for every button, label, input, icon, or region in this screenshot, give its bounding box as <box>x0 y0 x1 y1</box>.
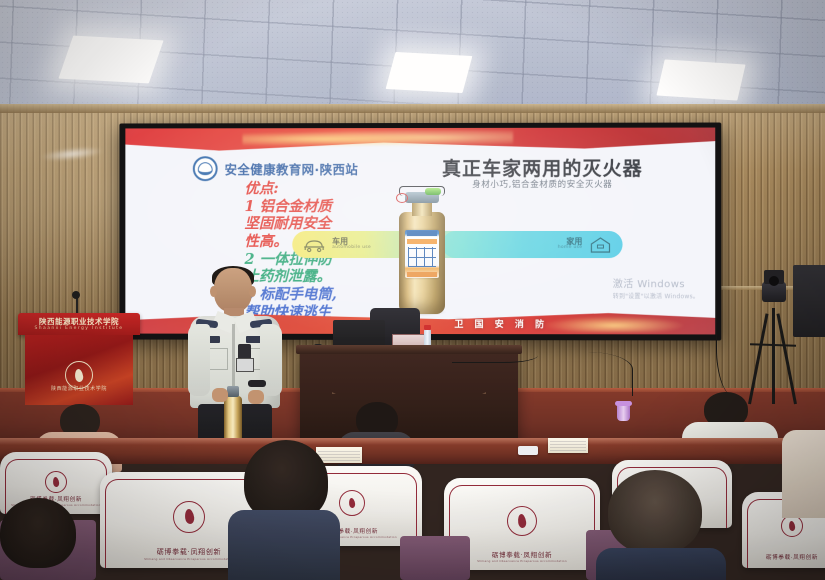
badge-automobile-sub: automobile use <box>332 246 371 251</box>
slide-bottom-ribbon-glow <box>537 315 691 332</box>
ceiling-light-2 <box>386 52 473 93</box>
school-crest-icon <box>173 501 205 533</box>
smartphone <box>518 446 538 455</box>
badge-automobile-label: 车用 automobile use <box>332 238 371 252</box>
speaker-podium: 陕西能源职业技术学院 Shaanxi Energy Institute 陕西能源… <box>18 313 140 405</box>
attendee-far-right <box>782 430 825 518</box>
gooseneck-microphone-icon <box>72 291 80 299</box>
slide-brand-name: 安全健康教育网·陕西站 <box>225 159 359 178</box>
badge-home-use: 家用 home use <box>442 231 623 258</box>
slide-top-ribbon-glow <box>243 130 514 148</box>
presenter-id-badge <box>236 358 254 372</box>
camera-tripod <box>742 282 804 404</box>
podium-front-panel: 陕西能源职业技术学院 <box>25 335 133 405</box>
seat-cover-slogan: 砺博拳载·凤翔创新 <box>492 551 552 559</box>
car-icon <box>302 236 326 253</box>
presenter-arm-left <box>188 324 210 396</box>
wall-cornice <box>0 104 825 113</box>
seat-cover-text: 砺博拳载·凤翔创新 <box>742 553 825 561</box>
watermark-title: 激活 Windows <box>613 275 699 290</box>
attendee-torso <box>596 548 726 580</box>
seat-cover-slogan: 砺博拳载·凤翔创新 <box>157 548 222 556</box>
attendee-bottom-center <box>228 440 340 580</box>
label-header-band <box>407 231 437 236</box>
tripod-leg-2 <box>772 308 775 404</box>
ceiling-light-3 <box>656 59 745 100</box>
school-crest-icon <box>781 515 803 537</box>
chair-seat-center[interactable] <box>400 536 470 580</box>
bullet-line: 1 铝合金材质 <box>244 198 384 216</box>
school-crest-icon <box>45 471 67 493</box>
presenter-officer <box>188 268 284 448</box>
windows-activation-watermark: 激活 Windows 转到"设置"以激活 Windows。 <box>613 275 699 300</box>
presenter-hand-left <box>212 388 228 402</box>
attendee-torso <box>228 510 340 580</box>
watermark-subtitle: 转到"设置"以激活 Windows。 <box>613 291 699 300</box>
tripod-leg-3 <box>776 313 796 404</box>
notebook-lines <box>550 440 586 451</box>
podium-panel-text: 陕西能源职业技术学院 <box>25 385 133 392</box>
podium-school-name-en: Shaanxi Energy Institute <box>18 326 140 331</box>
extinguisher-label <box>405 230 439 278</box>
presenter-ear-right <box>249 286 256 297</box>
badge-home-sub: home use <box>558 246 583 251</box>
podium-header: 陕西能源职业技术学院 Shaanxi Energy Institute <box>18 313 140 335</box>
travel-mug-lid <box>615 401 632 406</box>
lecture-hall-photo: 安全健康教育网·陕西站 真正车家两用的灭火器 身材小巧,铝合金材质的安全灭火器 … <box>0 0 825 580</box>
bullet-line: 优点: <box>244 180 384 198</box>
school-crest-icon <box>507 506 537 536</box>
attendee-torso <box>782 430 825 518</box>
attendee-head <box>0 498 76 568</box>
house-icon <box>588 236 612 253</box>
label-orange-band <box>407 239 437 244</box>
label-footer-band <box>407 272 437 277</box>
presenter-head <box>214 268 252 312</box>
attendee-head <box>608 470 702 554</box>
ceiling <box>0 0 825 118</box>
desk-cable-2 <box>520 352 633 396</box>
tripod-leg-1 <box>748 313 768 404</box>
presenter-hand-right <box>248 390 264 404</box>
slide-brand: 安全健康教育网·陕西站 <box>193 156 358 181</box>
presenter-ear-left <box>210 286 217 297</box>
globe-emblem-icon <box>193 156 218 181</box>
extinguisher-safety-pin-icon <box>396 193 408 203</box>
presenter-wristwatch <box>248 380 266 387</box>
camera-lens-icon <box>769 276 779 286</box>
desk-sheen <box>0 438 825 445</box>
attendee-right-edge <box>0 498 96 580</box>
fire-extinguisher-product-image <box>395 184 449 314</box>
notebook <box>548 438 588 453</box>
attendee-bottom-left <box>596 470 726 580</box>
school-crest-icon <box>339 490 365 516</box>
ceiling-light-1 <box>58 36 163 84</box>
water-bottle-cap <box>424 325 431 330</box>
held-extinguisher-valve <box>227 386 239 397</box>
label-instruction-grid <box>408 247 436 267</box>
seat-cover-slogan: 砺博拳载·凤翔创新 <box>766 555 818 561</box>
slide-bottom-banner-text: 卫 国 安 消 防 <box>454 317 548 330</box>
badge-home-label: 家用 home use <box>558 238 583 252</box>
purple-travel-mug <box>617 404 630 421</box>
